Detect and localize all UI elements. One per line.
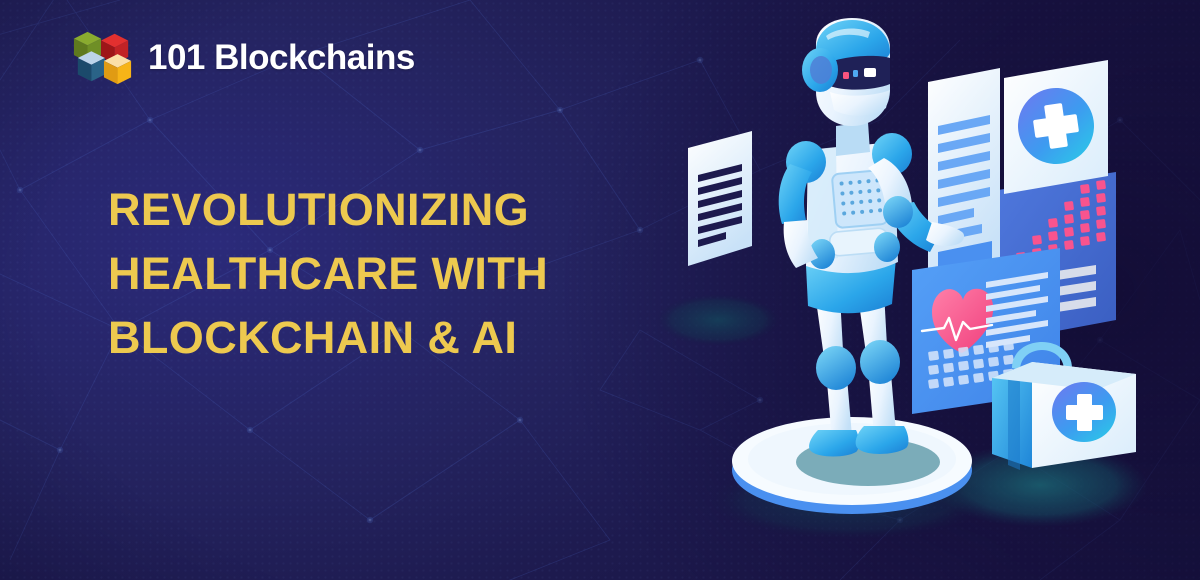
hip-joint-right — [874, 232, 900, 262]
brand-name: 101 Blockchains — [148, 40, 415, 75]
knee-joint-right — [860, 340, 900, 384]
robot-head — [802, 18, 890, 126]
elbow-joint-right — [883, 196, 913, 228]
foot-right — [856, 426, 909, 454]
headline-line-3: BLOCKCHAIN & AI — [108, 306, 648, 370]
brand-logo[interactable]: 101 Blockchains — [72, 26, 415, 88]
medical-cross-card[interactable] — [1004, 60, 1108, 194]
left-shadow-ellipse — [656, 294, 780, 346]
headline-line-2: HEALTHCARE WITH — [108, 242, 648, 306]
banner-root: 101 Blockchains REVOLUTIONIZING HEALTHCA… — [0, 0, 1200, 580]
headline: REVOLUTIONIZING HEALTHCARE WITH BLOCKCHA… — [108, 178, 648, 370]
foot-left — [809, 430, 859, 457]
head-visor — [830, 56, 890, 90]
robot-neck — [836, 122, 870, 156]
blockchain-cubes-logo-icon — [72, 26, 134, 88]
first-aid-kit[interactable] — [992, 342, 1136, 470]
headline-line-1: REVOLUTIONIZING — [108, 178, 648, 242]
small-document-card[interactable] — [688, 131, 752, 266]
knee-joint-left — [816, 346, 856, 390]
large-document-card[interactable] — [928, 68, 1000, 288]
kit-side-dark — [1008, 367, 1020, 470]
ear-pod-left-inner — [810, 56, 832, 84]
ai-healthcare-illustration — [640, 0, 1200, 580]
